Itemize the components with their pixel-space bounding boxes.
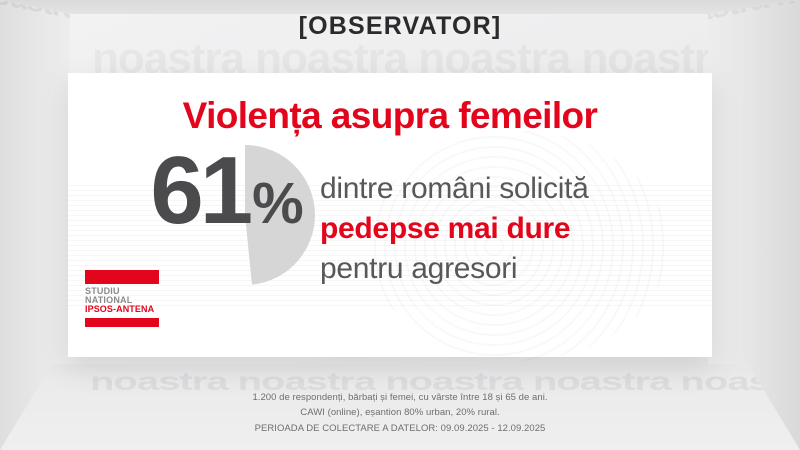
infographic-canvas: noastra noastra noastra noastra noastra … — [0, 0, 800, 450]
footer-line-period: PERIOADA DE COLECTARE A DATELOR: 09.09.2… — [0, 421, 800, 436]
logo-top-bar — [85, 270, 159, 284]
statistic-unit: % — [252, 175, 304, 233]
logo-bottom-bar — [85, 318, 159, 327]
page-title: Violența asupra femeilor — [68, 95, 712, 137]
logo-text-block: STUDIU NATIONAL IPSOS-ANTENA — [85, 287, 159, 315]
copy-line-2-emphasis: pedepse mai dure — [320, 209, 712, 249]
methodology-footer: 1.200 de respondenți, bărbați și femei, … — [0, 390, 800, 436]
copy-line-3: pentru agresori — [320, 249, 712, 289]
statistic-description: dintre români solicită pedepse mai dure … — [320, 169, 712, 289]
study-source-logo: STUDIU NATIONAL IPSOS-ANTENA — [85, 270, 159, 327]
logo-close-bracket: ] — [492, 12, 502, 40]
logo-open-bracket: [ — [299, 12, 309, 40]
footer-line-sample: 1.200 de respondenți, bărbați și femei, … — [0, 390, 800, 405]
observator-logo: [OBSERVATOR] — [0, 12, 800, 41]
logo-line-ipsos-antena: IPSOS-ANTENA — [85, 305, 159, 314]
copy-line-1: dintre români solicită — [320, 169, 712, 209]
statistic-value: 61 — [150, 147, 249, 235]
footer-line-method: CAWI (online), eșantion 80% urban, 20% r… — [0, 405, 800, 420]
logo-wordmark: OBSERVATOR — [308, 12, 492, 40]
content-card: Violența asupra femeilor 61 % dintre rom… — [68, 73, 712, 357]
